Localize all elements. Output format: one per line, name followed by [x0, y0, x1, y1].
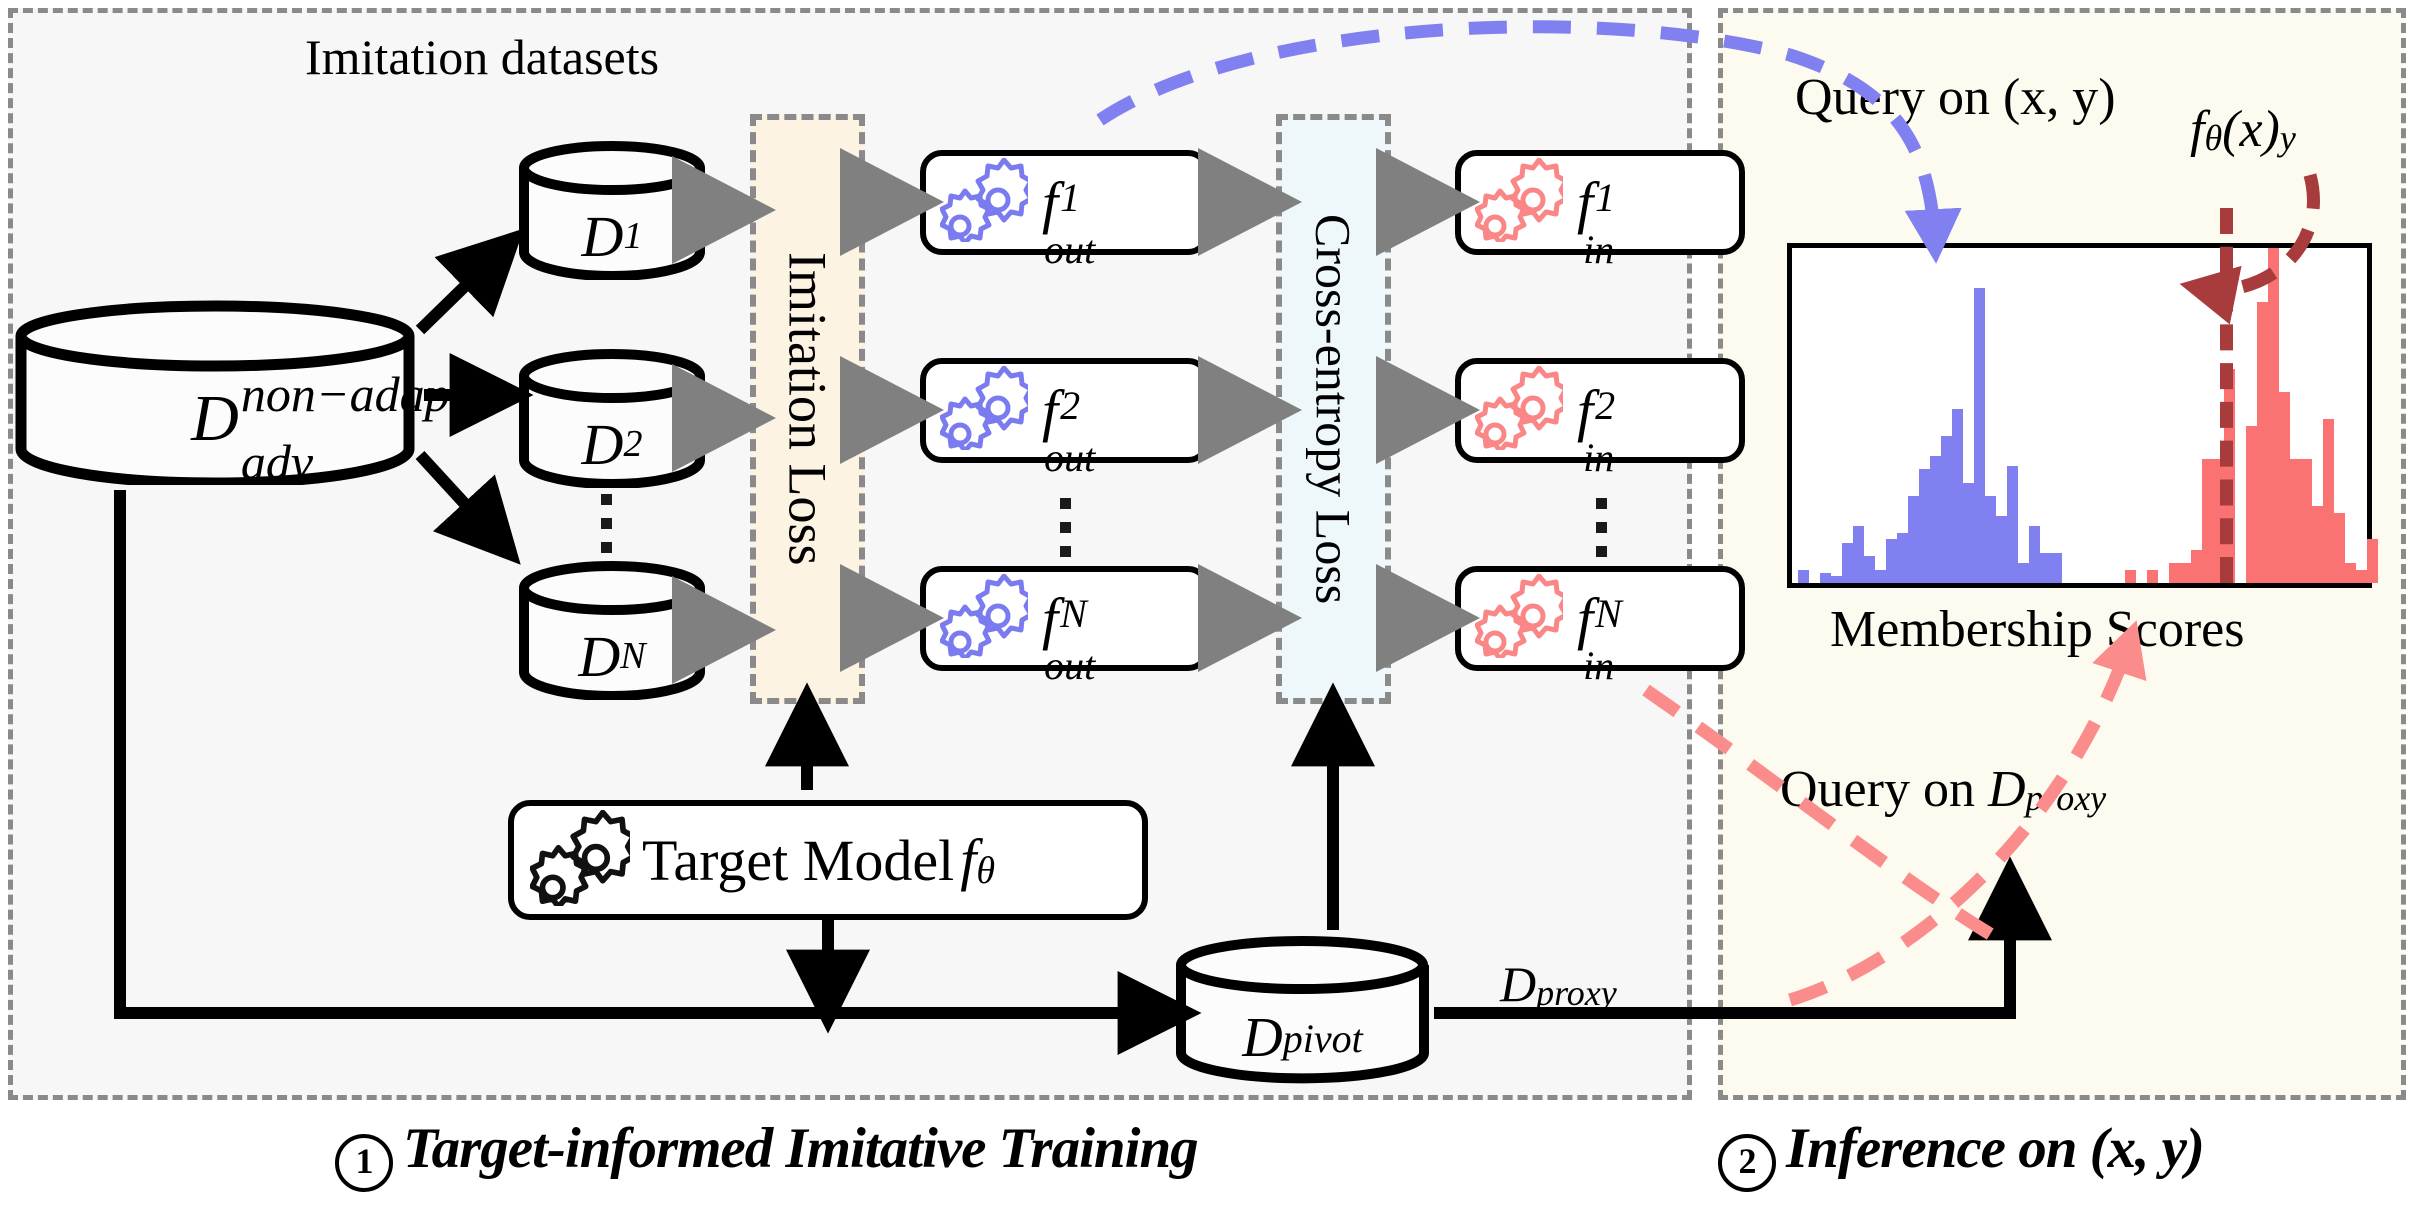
histogram-bar-in [2257, 302, 2268, 583]
query-on-xy-label: Query on (x, y) [1795, 68, 2116, 127]
left-panel-caption: 1Target-informed Imitative Training [335, 1116, 1198, 1192]
score-annotation-arg: (x) [2222, 101, 2280, 158]
histogram-bar-out [1864, 556, 1875, 583]
dataset-2-superscript: 2 [623, 422, 642, 466]
in-model-1-superscript: 1 [1595, 174, 1615, 221]
dataset-ellipsis [601, 494, 612, 553]
out-model-1-superscript: 1 [1060, 174, 1080, 221]
out-model-box-n: f N out [920, 566, 1210, 671]
histogram-bar-out [1886, 539, 1897, 583]
score-annotation-base: f [2190, 101, 2204, 158]
proxy-edge-base: D [1500, 956, 1536, 1012]
right-panel-caption: 2Inference on (x, y) [1718, 1116, 2204, 1192]
histogram-bar-out [1996, 516, 2007, 583]
histogram-bar-out [1842, 543, 1853, 583]
score-annotation-label: fθ(x)y [2190, 100, 2296, 159]
pivot-dataset-cylinder: Dpivot [1175, 935, 1430, 1085]
histogram-bar-out [2007, 466, 2018, 583]
out-model-box-2: f 2 out [920, 358, 1210, 463]
histogram-bar-in [2180, 563, 2191, 583]
in-model-n-subscript: in [1583, 642, 1614, 689]
in-model-2-subscript: in [1583, 434, 1614, 481]
imitation-datasets-label: Imitation datasets [305, 28, 659, 86]
histogram-bar-in [2191, 550, 2202, 584]
score-annotation-sub2: y [2280, 118, 2296, 158]
pivot-dataset-subscript: pivot [1283, 1015, 1363, 1062]
imitation-dataset-cylinder-2: D2 [518, 348, 706, 488]
histogram-bar-out [1985, 496, 1996, 583]
in-model-box-n: f N in [1455, 566, 1745, 671]
histogram-bar-out [1952, 409, 1963, 583]
histogram-bar-in [2290, 459, 2301, 583]
histogram-bar-in [2323, 419, 2334, 583]
histogram-bar-out [1930, 456, 1941, 583]
in-model-2-superscript: 2 [1595, 382, 1615, 429]
histogram-bar-in [2312, 506, 2323, 583]
adv-dataset-cylinder: D non−adapt adv [15, 300, 415, 485]
histogram-bar-out [1908, 496, 1919, 583]
histogram-bar-in [2345, 563, 2356, 583]
histogram-bar-in [2301, 459, 2312, 583]
pivot-dataset-base: D [1242, 1006, 1282, 1070]
query-on-proxy-subscript: proxy [2026, 778, 2107, 818]
histogram-bar-out [2040, 553, 2051, 583]
histogram-bar-in [2125, 570, 2136, 583]
histogram-bar-in [2356, 570, 2367, 583]
target-model-label: Target Model [642, 827, 954, 894]
out-model-2-subscript: out [1044, 434, 1095, 481]
histogram-bar-out [2018, 563, 2029, 583]
gear-icon [940, 366, 1028, 455]
cross-entropy-loss-label: Cross-entropy Loss [1309, 214, 1359, 604]
gear-icon [940, 574, 1028, 663]
figure-root: Imitation datasets D non−adapt adv D1 [0, 0, 2414, 1209]
histogram-bar-in [2367, 539, 2378, 583]
in-model-1-subscript: in [1583, 226, 1614, 273]
histogram-bar-out [2029, 526, 2040, 583]
cross-entropy-loss-box: Cross-entropy Loss [1276, 114, 1391, 704]
proxy-edge-subscript: proxy [1536, 973, 1617, 1013]
histogram-bar-in [2334, 513, 2345, 583]
gear-icon [1475, 574, 1563, 663]
right-caption-text: Inference on (x, y) [1786, 1117, 2204, 1180]
dataset-n-base: D [578, 623, 620, 690]
out-model-box-1: f 1 out [920, 150, 1210, 255]
histogram-bars [1792, 248, 2367, 583]
in-model-box-2: f 2 in [1455, 358, 1745, 463]
dataset-n-superscript: N [620, 634, 645, 678]
histogram-bar-out [1919, 469, 1930, 583]
histogram-bar-out [1974, 288, 1985, 583]
histogram-bar-in [2279, 392, 2290, 583]
histogram-bar-out [1831, 576, 1842, 583]
out-model-2-superscript: 2 [1060, 382, 1080, 429]
histogram-bar-in [2202, 459, 2213, 583]
left-caption-text: Target-informed Imitative Training [403, 1117, 1198, 1180]
gear-icon [940, 158, 1028, 247]
threshold-line [2220, 208, 2233, 583]
imitation-loss-label: Imitation Loss [781, 252, 835, 565]
dataset-1-superscript: 1 [623, 214, 642, 258]
imitation-dataset-cylinder-n: DN [518, 560, 706, 700]
target-model-symbol-subscript: θ [976, 851, 995, 893]
out-model-1-subscript: out [1044, 226, 1095, 273]
histogram-bar-out [1875, 570, 1886, 583]
in-model-box-1: f 1 in [1455, 150, 1745, 255]
query-on-proxy-base: D [1988, 761, 2026, 818]
gear-icon [1475, 366, 1563, 455]
target-model-box: Target Model fθ [508, 800, 1148, 920]
gear-icon [530, 810, 630, 911]
imitation-dataset-cylinder-1: D1 [518, 140, 706, 280]
step-number-2: 2 [1718, 1134, 1776, 1192]
dataset-2-base: D [582, 411, 624, 478]
adv-dataset-base: D [191, 381, 239, 457]
in-model-ellipsis [1596, 498, 1607, 557]
histogram-bar-out [1853, 526, 1864, 583]
histogram-bar-out [1820, 573, 1831, 583]
imitation-loss-box: Imitation Loss [750, 114, 865, 704]
out-model-n-superscript: N [1060, 590, 1087, 637]
dataset-1-base: D [582, 203, 624, 270]
adv-dataset-superscript: non−adapt [241, 365, 464, 423]
query-on-proxy-label: Query on Dproxy [1780, 760, 2106, 819]
proxy-edge-label: Dproxy [1500, 955, 1617, 1014]
histogram-bar-in [2147, 570, 2158, 583]
histogram-bar-out [2051, 553, 2062, 583]
histogram-bar-in [2246, 426, 2257, 583]
score-annotation-sub: θ [2204, 118, 2222, 158]
histogram-bar-in [2268, 248, 2279, 583]
gear-icon [1475, 158, 1563, 247]
histogram-bar-out [1798, 570, 1809, 583]
step-number-1: 1 [335, 1134, 393, 1192]
out-model-ellipsis [1060, 498, 1071, 557]
in-model-n-superscript: N [1595, 590, 1622, 637]
histogram-bar-out [1941, 436, 1952, 583]
xaxis-label: Membership Scores [1830, 600, 2244, 659]
histogram-bar-out [1897, 533, 1908, 583]
membership-score-histogram [1787, 243, 2372, 588]
histogram-bar-out [1963, 483, 1974, 584]
target-model-symbol: f [960, 827, 976, 892]
histogram-bar-in [2169, 563, 2180, 583]
out-model-n-subscript: out [1044, 642, 1095, 689]
query-on-proxy-prefix: Query on [1780, 761, 1988, 818]
adv-dataset-subscript: adv [241, 433, 313, 491]
